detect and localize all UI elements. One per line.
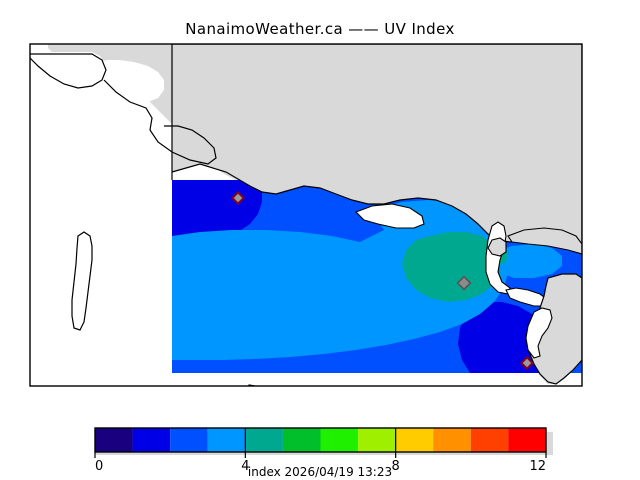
colorbar-segment-9[interactable]	[433, 428, 471, 452]
colorbar-tick-label-8: 8	[392, 459, 400, 474]
colorbar-segment-0[interactable]	[95, 428, 133, 452]
colorbar-segment-1[interactable]	[133, 428, 171, 452]
colorbar-svg[interactable]: 04812 index 2026/04/19 13:23	[0, 420, 640, 480]
colorbar-segment-10[interactable]	[471, 428, 509, 452]
colorbar-segment-6[interactable]	[321, 428, 359, 452]
colorbar-caption: index 2026/04/19 13:23	[248, 465, 392, 479]
map-panel	[0, 40, 640, 390]
colorbar-tick-label-12: 12	[529, 459, 546, 474]
colorbar-tick-label-0: 0	[95, 459, 103, 474]
colorbar-panel: 04812 index 2026/04/19 13:23	[0, 420, 640, 480]
uv-index-page: NanaimoWeather.ca —— UV Index	[0, 0, 640, 480]
colorbar-segment-4[interactable]	[245, 428, 283, 452]
page-title: NanaimoWeather.ca —— UV Index	[0, 20, 640, 38]
colorbar-segment-7[interactable]	[358, 428, 396, 452]
colorbar-segment-5[interactable]	[283, 428, 321, 452]
colorbar-segment-2[interactable]	[170, 428, 208, 452]
colorbar-segment-8[interactable]	[396, 428, 434, 452]
colorbar-segment-11[interactable]	[508, 428, 546, 452]
map-svg[interactable]	[0, 40, 640, 390]
colorbar-segments[interactable]	[95, 428, 546, 452]
colorbar-segment-3[interactable]	[208, 428, 246, 452]
